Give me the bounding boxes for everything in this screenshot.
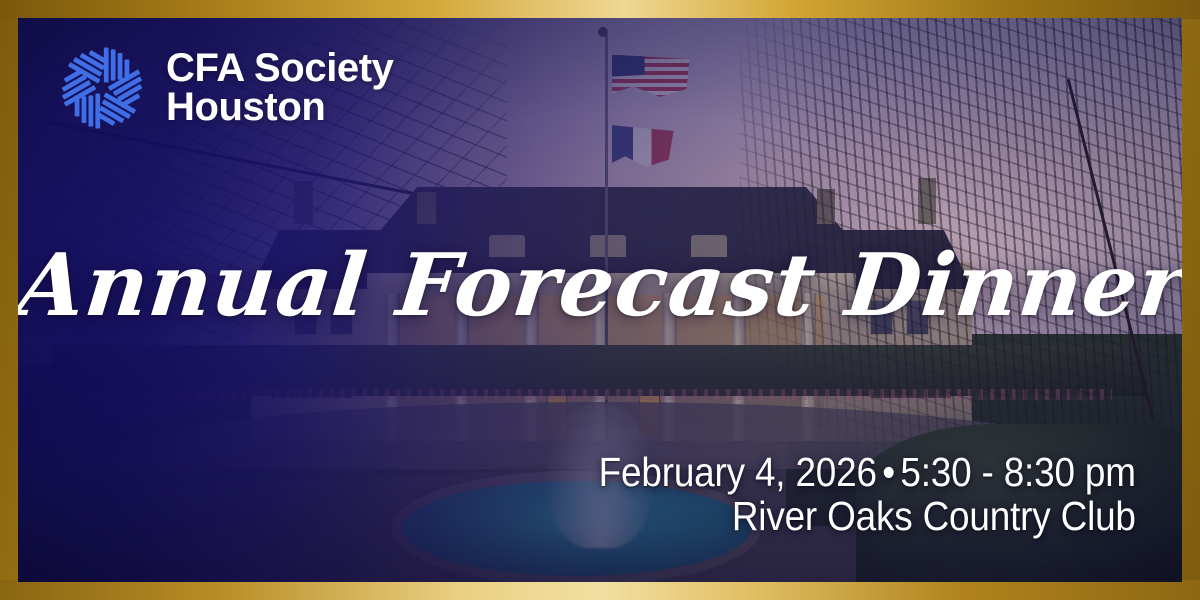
event-details: February 4, 2026•5:30 - 8:30 pm River Oa… (539, 450, 1136, 540)
gold-border-top (0, 0, 1200, 19)
event-banner: CFA Society Houston Annual Forecast Dinn… (0, 0, 1200, 600)
bullet-separator: • (877, 449, 901, 495)
event-time: 5:30 - 8:30 pm (901, 449, 1136, 495)
logo-wordmark: CFA Society Houston (166, 49, 394, 127)
gold-border-bottom (0, 580, 1200, 600)
banner-photo-stage: CFA Society Houston Annual Forecast Dinn… (18, 18, 1182, 582)
banner-content: CFA Society Houston Annual Forecast Dinn… (18, 18, 1182, 582)
event-venue: River Oaks Country Club (599, 494, 1136, 540)
event-date: February 4, 2026 (599, 449, 877, 495)
cfa-society-houston-logo[interactable]: CFA Society Houston (56, 42, 394, 134)
event-datetime-line: February 4, 2026•5:30 - 8:30 pm (599, 450, 1136, 494)
logo-wordmark-line1: CFA Society (166, 49, 394, 88)
logo-wordmark-line2: Houston (166, 88, 394, 127)
event-title: Annual Forecast Dinner (18, 243, 1182, 329)
cfa-pinwheel-logo-icon (56, 42, 148, 134)
